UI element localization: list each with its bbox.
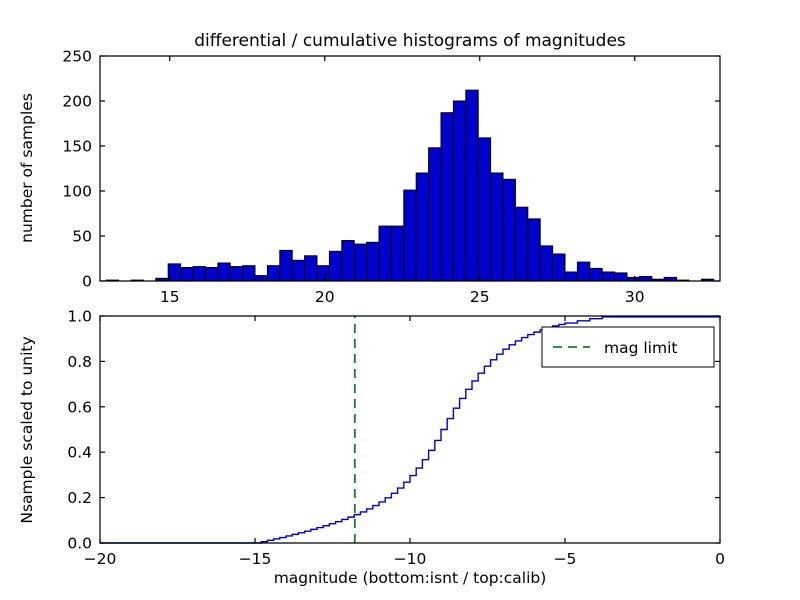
histogram-bar: [255, 276, 267, 281]
chart-title: differential / cumulative histograms of …: [194, 31, 626, 51]
legend[interactable]: mag limit: [542, 327, 714, 367]
bottom-x-tick-label: 0: [715, 550, 725, 568]
histogram-bar: [205, 268, 217, 282]
histogram-bar: [416, 173, 428, 281]
histogram-bar: [553, 254, 565, 281]
histogram-bar: [342, 241, 354, 282]
histogram-bar: [590, 268, 602, 281]
histogram-bar: [193, 267, 205, 281]
top-x-tick-label: 20: [315, 288, 335, 306]
histogram-bar: [218, 263, 230, 281]
bottom-y-tick-label: 0.2: [67, 489, 92, 507]
histogram-bar: [441, 113, 453, 281]
bottom-x-tick-label: −15: [239, 550, 272, 568]
histogram-bar: [305, 256, 317, 281]
bottom-y-tick-label: 0.8: [67, 353, 92, 371]
top-x-tick-label: 25: [470, 288, 490, 306]
bottom-y-tick-label: 0.4: [67, 444, 92, 462]
histogram-bar: [354, 244, 366, 281]
histogram-bar: [391, 226, 403, 281]
bottom-x-tick-label: −5: [554, 550, 577, 568]
histogram-bar: [503, 179, 515, 281]
histogram-bar: [317, 266, 329, 281]
top-y-tick-label: 200: [62, 93, 92, 111]
histogram-bar: [379, 226, 391, 281]
histogram-bar: [577, 262, 589, 281]
bottom-x-tick-label: −10: [394, 550, 427, 568]
top-y-tick-label: 50: [72, 228, 92, 246]
legend-label-mag-limit: mag limit: [604, 339, 677, 357]
histogram-bar: [540, 246, 552, 281]
top-y-axis-label: number of samples: [18, 93, 36, 243]
histogram-bar: [528, 219, 540, 281]
histogram-bar: [429, 148, 441, 281]
histogram-bar: [491, 173, 503, 281]
histogram-bar: [602, 272, 614, 281]
bottom-y-tick-label: 0.6: [67, 398, 92, 416]
matplotlib-figure: 05010015020025015202530 differential / c…: [0, 0, 800, 600]
histogram-bar: [230, 267, 242, 281]
top-y-tick-label: 250: [62, 48, 92, 66]
top-y-tick-label: 100: [62, 183, 92, 201]
histogram-bar: [243, 266, 255, 281]
figure-canvas: 05010015020025015202530 differential / c…: [0, 0, 800, 600]
histogram-bar: [565, 272, 577, 281]
histogram-bar: [639, 277, 651, 282]
histogram-bar: [515, 207, 527, 281]
histogram-bar: [404, 190, 416, 281]
bottom-y-tick-label: 1.0: [67, 308, 92, 326]
histogram-bar: [280, 250, 292, 281]
histogram-bar: [181, 268, 193, 282]
histogram-bar: [453, 101, 465, 281]
top-x-tick-label: 15: [160, 288, 180, 306]
histogram-bar: [615, 273, 627, 281]
histogram-bar: [329, 251, 341, 281]
histogram-bar: [367, 242, 379, 281]
bottom-y-axis-label: Nsample scaled to unity: [18, 336, 36, 523]
top-y-tick-label: 0: [82, 273, 92, 291]
histogram-bar: [478, 138, 490, 281]
top-subplot-histogram: 05010015020025015202530: [62, 48, 720, 307]
histogram-bar: [466, 90, 478, 281]
bottom-x-tick-label: −20: [84, 550, 117, 568]
bottom-x-axis-label: magnitude (bottom:isnt / top:calib): [274, 569, 547, 587]
top-y-tick-label: 150: [62, 138, 92, 156]
top-x-tick-label: 30: [625, 288, 645, 306]
histogram-bar: [292, 260, 304, 281]
histogram-bar: [267, 266, 279, 281]
